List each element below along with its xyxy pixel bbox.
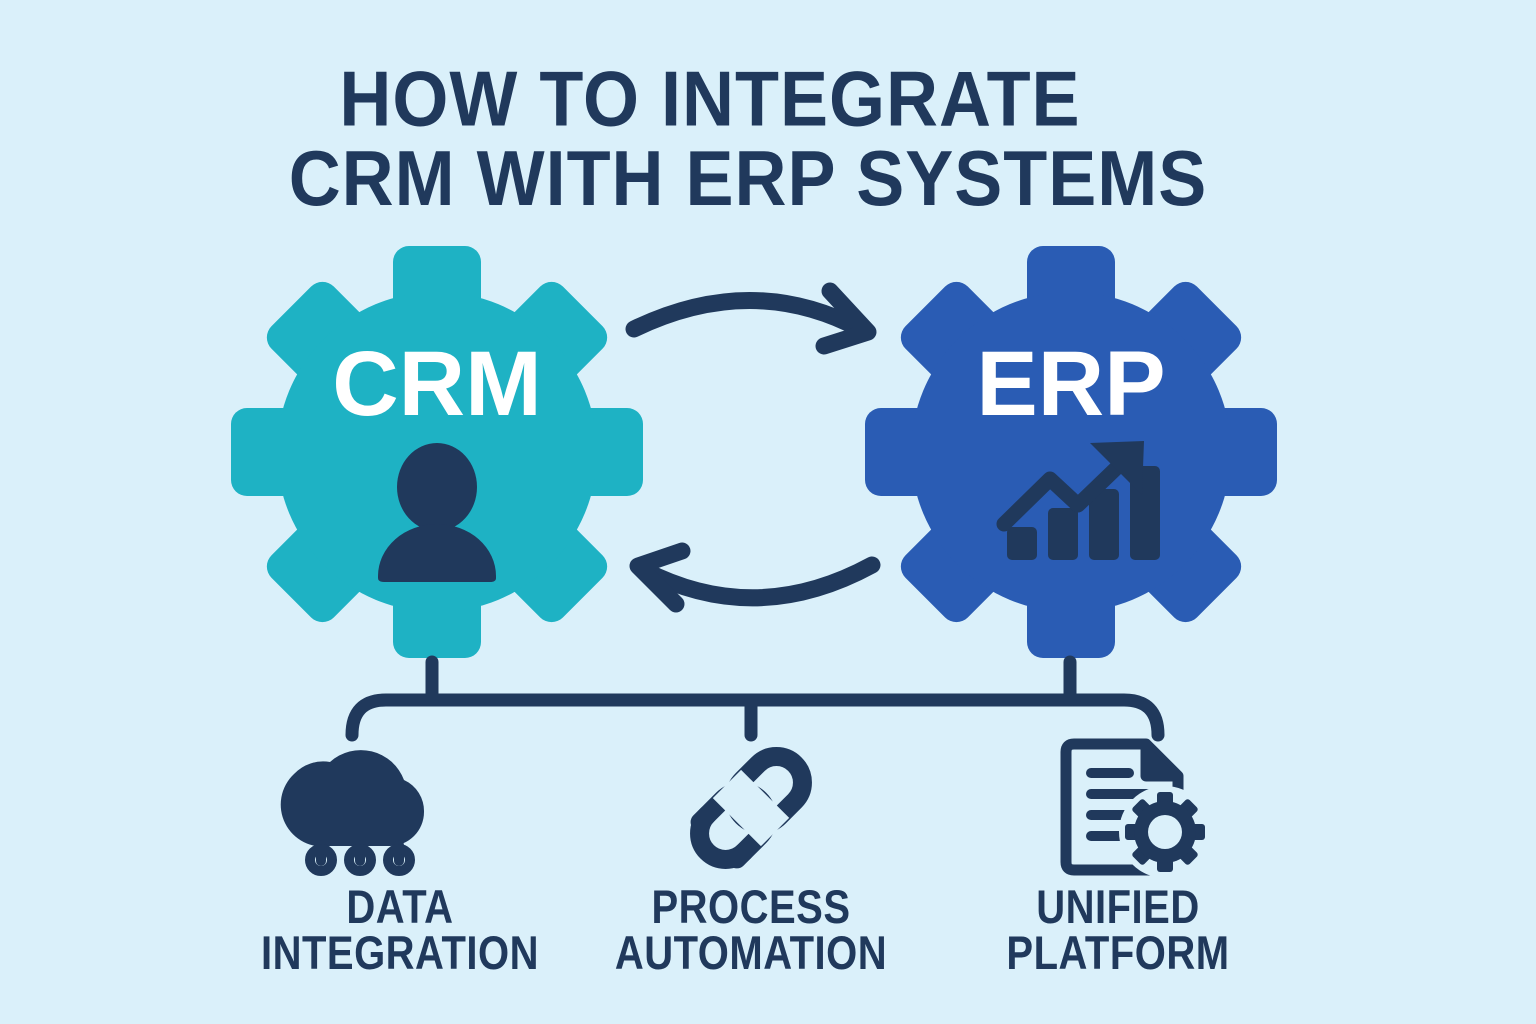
crm-system-node[interactable]: CRM xyxy=(231,246,643,658)
erp-label: ERP xyxy=(976,333,1165,435)
benefit-1-line-1: DATA xyxy=(346,881,453,934)
benefit-2-line-1: PROCESS xyxy=(651,881,850,934)
erp-gear-icon xyxy=(865,246,1277,658)
title-line-1: HOW TO INTEGRATE xyxy=(339,55,1080,142)
erp-system-node[interactable]: ERP xyxy=(865,246,1277,658)
title-line-2: CRM WITH ERP SYSTEMS xyxy=(289,135,1208,222)
benefit-3-line-2: PLATFORM xyxy=(1006,927,1229,980)
crm-label: CRM xyxy=(332,333,542,435)
infographic-artboard: HOW TO INTEGRATE CRM WITH ERP SYSTEMS CR… xyxy=(0,0,1536,1024)
page-title: HOW TO INTEGRATE CRM WITH ERP SYSTEMS xyxy=(289,55,1208,222)
benefit-1-line-2: INTEGRATION xyxy=(261,927,539,980)
benefit-3-line-1: UNIFIED xyxy=(1036,881,1199,934)
benefit-2-line-2: AUTOMATION xyxy=(615,927,887,980)
infographic-canvas: HOW TO INTEGRATE CRM WITH ERP SYSTEMS CR… xyxy=(0,0,1536,1024)
